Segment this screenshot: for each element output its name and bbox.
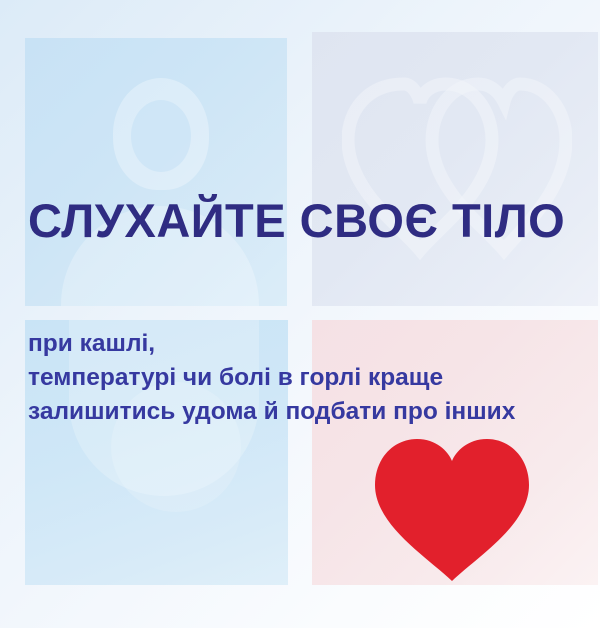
- body-copy: при кашлі, температурі чи болі в горлі к…: [28, 327, 588, 429]
- body-line-1: при кашлі,: [28, 327, 588, 361]
- page-title: СЛУХАЙТЕ СВОЄ ТІЛО: [28, 197, 588, 244]
- person-face-watermark-icon: [131, 100, 191, 172]
- body-line-3: залишитись удома й подбати про інших: [28, 395, 588, 429]
- poster-canvas: СЛУХАЙТЕ СВОЄ ТІЛО при кашлі, температур…: [0, 0, 600, 628]
- person-head-watermark-icon: [113, 78, 209, 190]
- panel-top-left: [25, 38, 287, 306]
- body-line-2: температурі чи болі в горлі краще: [28, 361, 588, 395]
- heart-icon: [369, 437, 535, 581]
- panel-top-right: [312, 32, 598, 306]
- double-heart-watermark-icon: [342, 44, 572, 294]
